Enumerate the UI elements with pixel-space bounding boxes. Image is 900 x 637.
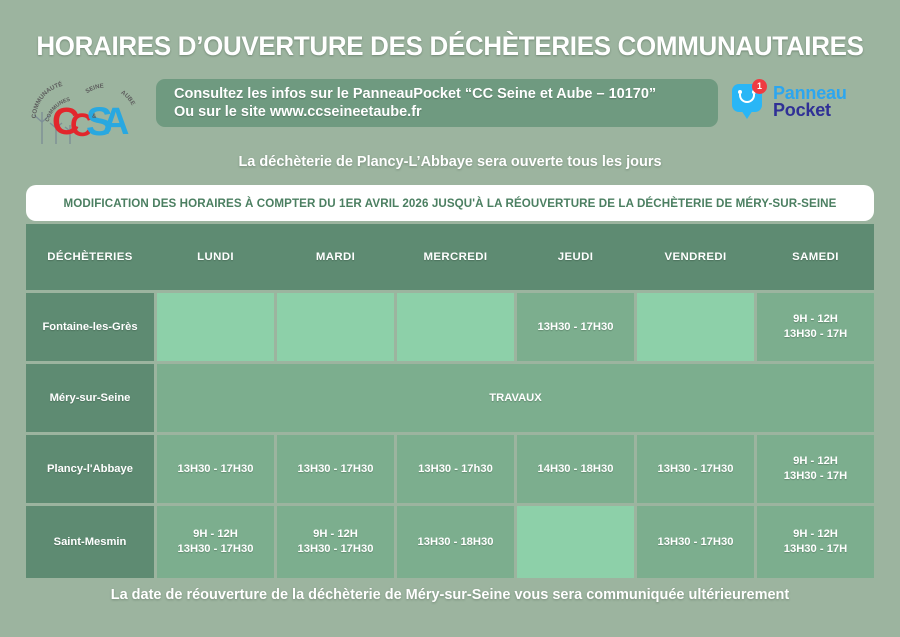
cell-plancy-mercredi: 13H30 - 17h30 bbox=[397, 435, 514, 503]
table-header-vendredi: VENDREDI bbox=[637, 224, 754, 290]
ccsa-arc-seine: SEINE bbox=[85, 84, 104, 96]
table-header-decheteries: DÉCHÈTERIES bbox=[26, 224, 154, 290]
table-row: Plancy-l'Abbaye 13H30 - 17H30 13H30 - 17… bbox=[26, 435, 874, 503]
ccsa-logo: C C S A COMMUNAUTÉ COMMUNES SEINE AUBE bbox=[26, 78, 146, 146]
table-row: Fontaine-les-Grès 13H30 - 17H30 9H - 12H… bbox=[26, 293, 874, 361]
info-banner: Consultez les infos sur le PanneauPocket… bbox=[156, 79, 718, 127]
cell-saintmesmin-mardi: 9H - 12H 13H30 - 17H30 bbox=[277, 506, 394, 578]
cell-fontaine-lundi bbox=[157, 293, 274, 361]
cell-saintmesmin-mercredi: 13H30 - 18H30 bbox=[397, 506, 514, 578]
page-title: HORAIRES D’OUVERTURE DES DÉCHÈTERIES COM… bbox=[18, 0, 882, 62]
row-label-saintmesmin: Saint-Mesmin bbox=[26, 506, 154, 578]
cell-plancy-lundi: 13H30 - 17H30 bbox=[157, 435, 274, 503]
cell-saintmesmin-jeudi bbox=[517, 506, 634, 578]
cell-plancy-jeudi: 14H30 - 18H30 bbox=[517, 435, 634, 503]
table-header-mercredi: MERCREDI bbox=[397, 224, 514, 290]
cell-saintmesmin-vendredi: 13H30 - 17H30 bbox=[637, 506, 754, 578]
table-row: Saint-Mesmin 9H - 12H 13H30 - 17H30 9H -… bbox=[26, 506, 874, 578]
table-header-lundi: LUNDI bbox=[157, 224, 274, 290]
info-banner-line2: Ou sur le site www.ccseineetaube.fr bbox=[174, 103, 718, 121]
table-header-row: DÉCHÈTERIES LUNDI MARDI MERCREDI JEUDI V… bbox=[26, 224, 874, 290]
svg-text:A: A bbox=[102, 101, 129, 143]
table-header-mardi: MARDI bbox=[277, 224, 394, 290]
info-banner-line1: Consultez les infos sur le PanneauPocket… bbox=[174, 86, 656, 102]
cell-fontaine-mercredi bbox=[397, 293, 514, 361]
row-label-fontaine: Fontaine-les-Grès bbox=[26, 293, 154, 361]
cell-plancy-mardi: 13H30 - 17H30 bbox=[277, 435, 394, 503]
footer-note: La date de réouverture de la déchèterie … bbox=[26, 587, 874, 603]
ccsa-logo-icon: C C S A COMMUNAUTÉ COMMUNES SEINE AUBE bbox=[26, 78, 146, 146]
cell-plancy-samedi: 9H - 12H 13H30 - 17H bbox=[757, 435, 874, 503]
row-label-mery: Méry-sur-Seine bbox=[26, 364, 154, 432]
poster-root: HORAIRES D’OUVERTURE DES DÉCHÈTERIES COM… bbox=[0, 0, 900, 637]
cell-fontaine-vendredi bbox=[637, 293, 754, 361]
cell-fontaine-mardi bbox=[277, 293, 394, 361]
table-header-jeudi: JEUDI bbox=[517, 224, 634, 290]
notification-badge: 1 bbox=[752, 79, 767, 94]
row-label-plancy: Plancy-l'Abbaye bbox=[26, 435, 154, 503]
cell-fontaine-samedi: 9H - 12H 13H30 - 17H bbox=[757, 293, 874, 361]
cell-saintmesmin-lundi: 9H - 12H 13H30 - 17H30 bbox=[157, 506, 274, 578]
subtitle-note: La déchèterie de Plancy-L’Abbaye sera ou… bbox=[0, 154, 900, 170]
panneaupocket-word-pocket: Pocket bbox=[773, 102, 847, 119]
cell-plancy-vendredi: 13H30 - 17H30 bbox=[637, 435, 754, 503]
table-header-samedi: SAMEDI bbox=[757, 224, 874, 290]
cell-fontaine-jeudi: 13H30 - 17H30 bbox=[517, 293, 634, 361]
panneaupocket-wordmark: Panneau Pocket bbox=[773, 85, 847, 119]
schedule-table-wrap: MODIFICATION DES HORAIRES À COMPTER DU 1… bbox=[26, 185, 874, 603]
ccsa-ampersand: & bbox=[92, 114, 97, 120]
panneaupocket-logo: 1 Panneau Pocket bbox=[732, 78, 878, 126]
cell-mery-travaux: TRAVAUX bbox=[157, 364, 874, 432]
cell-saintmesmin-samedi: 9H - 12H 13H30 - 17H bbox=[757, 506, 874, 578]
table-row: Méry-sur-Seine TRAVAUX bbox=[26, 364, 874, 432]
header-band: C C S A COMMUNAUTÉ COMMUNES SEINE AUBE bbox=[0, 76, 900, 148]
schedule-grid: DÉCHÈTERIES LUNDI MARDI MERCREDI JEUDI V… bbox=[26, 224, 874, 578]
modification-banner: MODIFICATION DES HORAIRES À COMPTER DU 1… bbox=[26, 185, 874, 221]
panneaupocket-bubble-icon: 1 bbox=[732, 82, 766, 122]
